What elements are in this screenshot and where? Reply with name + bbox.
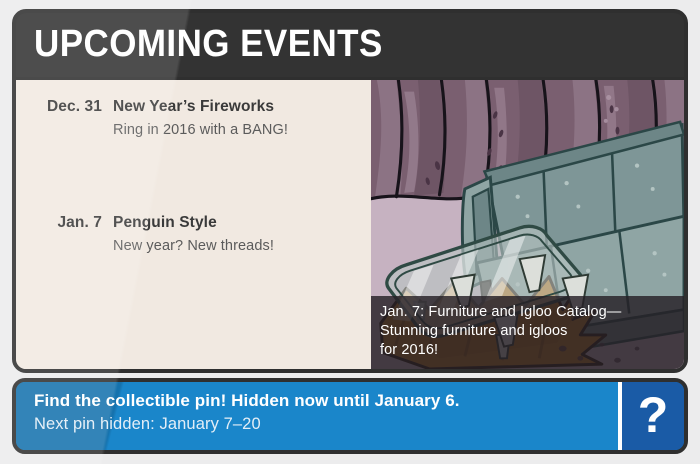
event-item-1[interactable]: Jan. 7 Penguin Style New year? New threa…: [16, 214, 371, 254]
caption-line-2: Stunning furniture and igloos: [380, 322, 675, 341]
event-row: Dec. 31 New Year’s Fireworks: [16, 98, 371, 116]
photo-caption: Jan. 7: Furniture and Igloo Catalog— Stu…: [371, 296, 684, 369]
card-body: Dec. 31 New Year’s Fireworks Ring in 201…: [16, 80, 684, 369]
pin-bar-subline: Next pin hidden: January 7–20: [34, 415, 618, 434]
event-row: Jan. 7 Penguin Style: [16, 214, 371, 232]
event-item-0[interactable]: Dec. 31 New Year’s Fireworks Ring in 201…: [16, 98, 371, 138]
page-title: UPCOMING EVENTS: [34, 21, 383, 67]
caption-line-3: for 2016!: [380, 341, 675, 360]
pin-bar-text[interactable]: Find the collectible pin! Hidden now unt…: [16, 382, 618, 450]
pin-bar-headline: Find the collectible pin! Hidden now unt…: [34, 391, 618, 411]
events-card: UPCOMING EVENTS Dec. 31 New Year’s Firew…: [12, 9, 688, 373]
events-list: Dec. 31 New Year’s Fireworks Ring in 201…: [16, 80, 371, 369]
catalog-illustration[interactable]: Jan. 7: Furniture and Igloo Catalog— Stu…: [371, 80, 684, 369]
caption-line-1: Jan. 7: Furniture and Igloo Catalog—: [380, 303, 675, 322]
question-mark-icon: ?: [638, 390, 669, 440]
event-title: Penguin Style: [102, 214, 217, 232]
upcoming-events-widget: UPCOMING EVENTS Dec. 31 New Year’s Firew…: [0, 0, 700, 464]
event-date: Dec. 31: [16, 98, 102, 116]
collectible-pin-bar: Find the collectible pin! Hidden now unt…: [12, 378, 688, 454]
event-subtitle: Ring in 2016 with a BANG!: [113, 122, 371, 138]
event-subtitle: New year? New threads!: [113, 238, 371, 254]
card-header: UPCOMING EVENTS: [16, 13, 684, 77]
event-title: New Year’s Fireworks: [102, 98, 274, 116]
help-button[interactable]: ?: [618, 382, 684, 450]
event-date: Jan. 7: [16, 214, 102, 232]
